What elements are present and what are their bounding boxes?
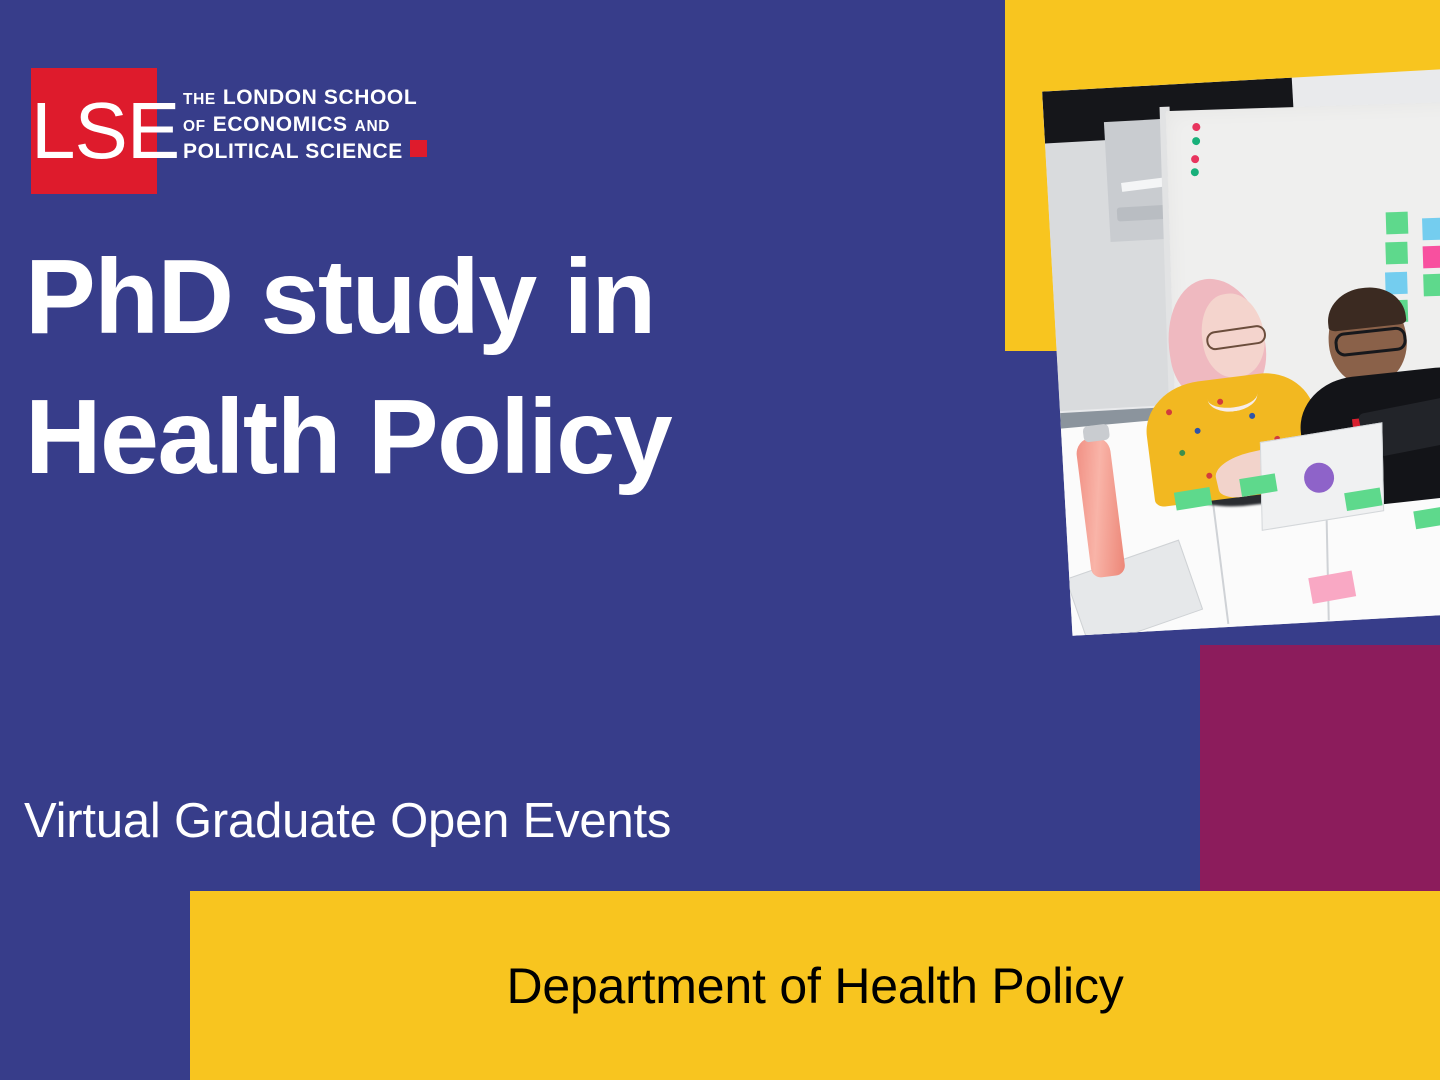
- lse-logo-political-science: POLITICAL SCIENCE: [183, 139, 403, 166]
- photo-floral-dot: [1166, 409, 1173, 416]
- presentation-slide: Department of Health Policy LSE THE LOND…: [0, 0, 1440, 1080]
- lse-logo-mark-text: LSE: [31, 91, 157, 171]
- lse-logo-and: AND: [355, 117, 390, 137]
- page-title-line-1: PhD study in: [25, 228, 845, 368]
- decorative-block-maroon: [1200, 645, 1440, 891]
- lse-logo-of: OF: [183, 117, 206, 137]
- page-title: PhD study in Health Policy: [25, 228, 845, 508]
- photo-contents: Department of Health Policy: [1042, 69, 1440, 635]
- photo-floral-dot: [1206, 472, 1213, 479]
- decorative-block-navy-strip: [1152, 645, 1200, 891]
- red-square-icon: [410, 140, 427, 157]
- students-photo: Department of Health Policy: [1042, 69, 1440, 635]
- photo-sticky-note: [1423, 246, 1440, 269]
- photo-sticky-note: [1385, 242, 1408, 265]
- lse-logo-economics: ECONOMICS: [213, 112, 348, 139]
- page-title-line-2: Health Policy: [25, 368, 845, 508]
- lse-logo-mark: LSE: [31, 68, 157, 194]
- photo-sticky-note: [1422, 218, 1440, 241]
- photo-floral-dot: [1249, 413, 1256, 420]
- lse-logo-the: THE: [183, 90, 216, 110]
- photo-floral-dot: [1194, 427, 1201, 434]
- lse-logo-london-school: LONDON SCHOOL: [223, 85, 417, 112]
- photo-sticky-note: [1386, 212, 1409, 235]
- lse-logo-line-2: OF ECONOMICS AND: [183, 112, 427, 139]
- lse-logo: LSE THE LONDON SCHOOL OF ECONOMICS AND P…: [31, 68, 427, 194]
- page-subtitle: Virtual Graduate Open Events: [24, 792, 671, 851]
- lse-logo-line-1: THE LONDON SCHOOL: [183, 85, 427, 112]
- photo-water-bottle-cap: [1082, 424, 1110, 443]
- lse-logo-wordmark: THE LONDON SCHOOL OF ECONOMICS AND POLIT…: [183, 68, 427, 166]
- photo-floral-dot: [1179, 450, 1186, 457]
- department-caption: Department of Health Policy: [190, 891, 1440, 1080]
- lse-logo-line-3: POLITICAL SCIENCE: [183, 139, 427, 166]
- photo-sticky-note: [1423, 274, 1440, 297]
